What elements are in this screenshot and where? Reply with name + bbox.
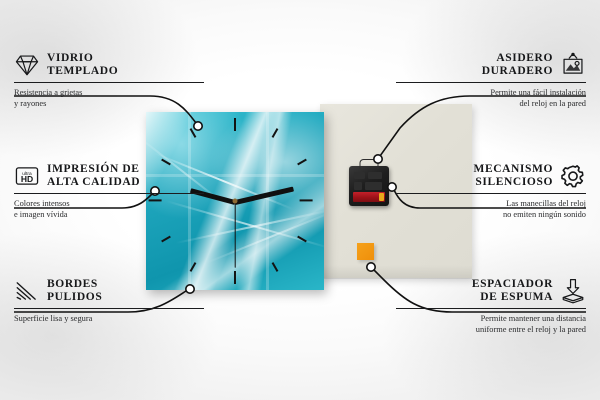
foam-spacer-arrow-icon (560, 278, 586, 304)
feature-divider (396, 193, 586, 194)
hour-tick-3 (300, 199, 313, 201)
hanging-picture-icon (560, 52, 586, 78)
feature-impresion-alta-calidad: ultra HD IMPRESIÓN DE ALTA CALIDAD Color… (14, 163, 204, 220)
feature-description: Resistencia a grietas y rayones (14, 88, 204, 109)
feature-divider (14, 193, 204, 194)
feature-description: Colores intensos e imagen vívida (14, 199, 204, 220)
feature-title: BORDES PULIDOS (47, 278, 102, 304)
feature-title: ASIDERO DURADERO (482, 52, 553, 78)
feature-divider (396, 82, 586, 83)
feature-description: Permite una fácil instalación del reloj … (396, 88, 586, 109)
diamond-icon (14, 52, 40, 78)
feature-mecanismo-silencioso: MECANISMO SILENCIOSO Las manecillas del … (396, 163, 586, 220)
hour-tick-6 (234, 271, 236, 284)
feature-description: Superficie lisa y segura (14, 314, 204, 325)
feature-title: VIDRIO TEMPLADO (47, 52, 118, 78)
clock-mechanism (349, 166, 389, 206)
feature-divider (396, 308, 586, 309)
feature-asidero-duradero: ASIDERO DURADERO Permite una fácil insta… (396, 52, 586, 109)
feature-description: Las manecillas del reloj no emiten ningú… (396, 199, 586, 220)
hour-tick-12 (234, 118, 236, 131)
feature-vidrio-templado: VIDRIO TEMPLADO Resistencia a grietas y … (14, 52, 204, 109)
feature-bordes-pulidos: BORDES PULIDOS Superficie lisa y segura (14, 278, 204, 325)
clock-battery (353, 192, 385, 202)
ultra-hd-badge-icon: ultra HD (14, 163, 40, 189)
feature-description: Permite mantener una distancia uniforme … (396, 314, 586, 335)
foam-spacer-sample (357, 243, 374, 260)
feature-divider (14, 82, 204, 83)
mechanism-detail (368, 172, 382, 179)
mechanism-detail (354, 182, 362, 190)
mechanism-detail (354, 172, 365, 179)
second-hand (234, 202, 235, 268)
ultra-hd-large-text: HD (21, 174, 33, 184)
feature-divider (14, 308, 204, 309)
glass-pane-line (266, 112, 269, 290)
feature-title: ESPACIADOR DE ESPUMA (472, 278, 553, 304)
polished-edges-icon (14, 278, 40, 304)
gear-icon (560, 163, 586, 189)
hands-center-cap (233, 199, 238, 204)
feature-title: IMPRESIÓN DE ALTA CALIDAD (47, 163, 140, 189)
mechanism-detail (365, 182, 382, 190)
hanger-loop-icon (360, 159, 379, 169)
infographic-canvas: VIDRIO TEMPLADO Resistencia a grietas y … (0, 0, 600, 400)
feature-title: MECANISMO SILENCIOSO (473, 163, 553, 189)
feature-espaciador-de-espuma: ESPACIADOR DE ESPUMA Permite mantener un… (396, 278, 586, 335)
